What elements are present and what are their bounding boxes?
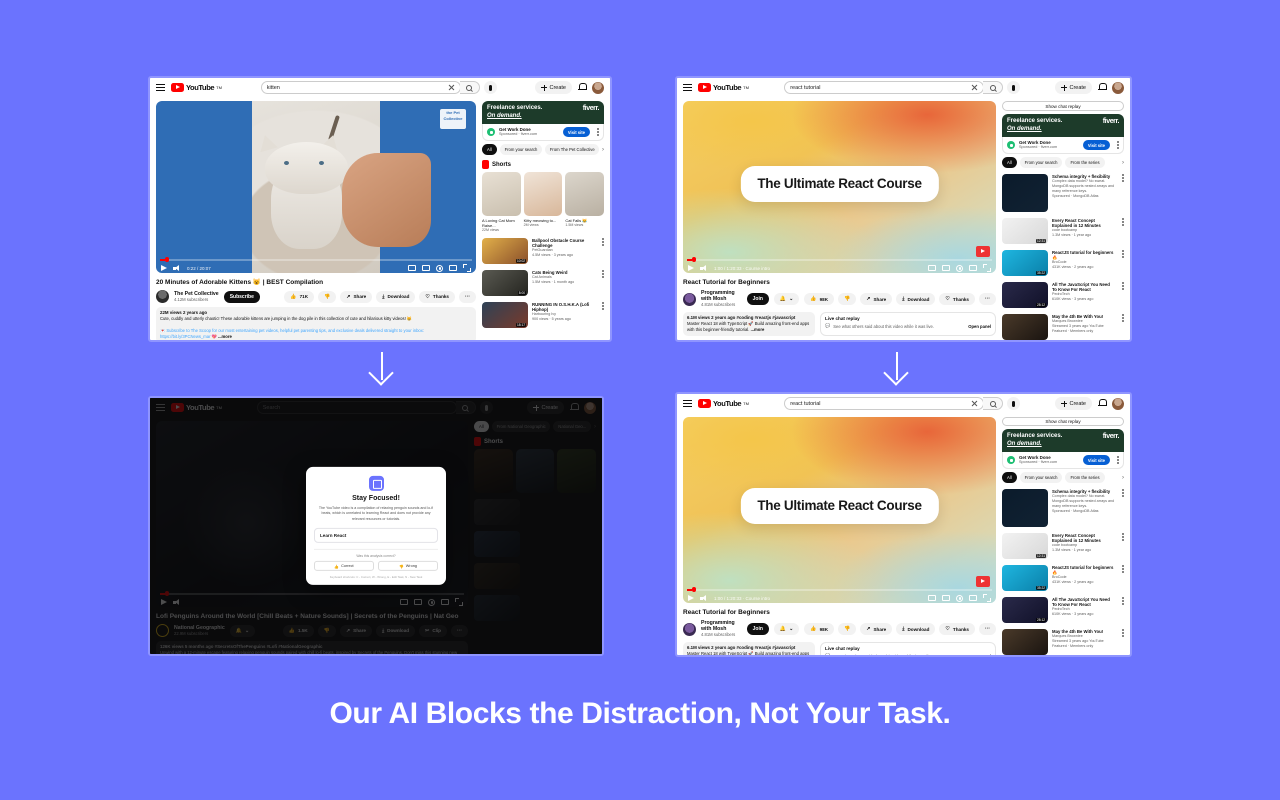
share-label: Share bbox=[353, 294, 366, 299]
short-thumbnail bbox=[565, 172, 604, 216]
thanks-label: Thanks bbox=[953, 627, 969, 632]
player-right-controls bbox=[408, 264, 471, 272]
recommendation-more-icon[interactable] bbox=[1122, 489, 1124, 497]
video-description[interactable]: 6.1M views 2 years ago #coding #reactjs … bbox=[683, 642, 815, 655]
channel-name: Programming with Mosh bbox=[701, 290, 742, 302]
hamburger-menu-icon[interactable] bbox=[683, 84, 692, 91]
filter-chips: All From your search From The Pet Collec… bbox=[482, 144, 604, 155]
current-task-field[interactable]: Learn React bbox=[314, 528, 438, 543]
recommendation-thumbnail bbox=[1002, 489, 1048, 527]
video-title-card: The Ultimate React Course bbox=[740, 166, 938, 202]
share-label: Share bbox=[873, 297, 886, 302]
thanks-button[interactable]: ♡Thanks bbox=[939, 623, 975, 635]
download-label: Download bbox=[907, 297, 929, 302]
recommendation-thumbnail: 35:22 bbox=[1002, 565, 1048, 591]
recommendation-thumbnail: 28:12 bbox=[1002, 282, 1048, 308]
video-title: React Tutorial for Beginners bbox=[683, 278, 996, 287]
ad-more-icon[interactable] bbox=[1117, 456, 1119, 464]
thanks-button[interactable]: ♡Thanks bbox=[419, 291, 455, 303]
analysis-question: Was this analysis correct? bbox=[314, 549, 438, 558]
recommendation-title: RUNNING IN O.S.H.K.A (Lofi Hiphop) bbox=[532, 302, 595, 312]
youtube-wordmark: YouTube bbox=[186, 83, 214, 92]
heart-icon: ♡ bbox=[945, 626, 949, 632]
ad-more-icon[interactable] bbox=[1117, 141, 1119, 149]
video-description[interactable]: 6.1M views 2 years ago #coding #reactjs … bbox=[683, 312, 815, 336]
theater-mode-icon[interactable] bbox=[449, 265, 457, 271]
join-button[interactable]: Join bbox=[747, 623, 769, 635]
views-line: 22M views 2 years ago bbox=[160, 310, 207, 315]
duration-badge: 8:00 bbox=[518, 291, 526, 295]
recommendation-item[interactable]: 12:31 Every React Concept Explained in 1… bbox=[1002, 218, 1124, 244]
subtitles-icon[interactable] bbox=[928, 595, 936, 601]
subtitles-icon[interactable] bbox=[408, 265, 416, 271]
recommendation-more-icon[interactable] bbox=[602, 270, 604, 278]
duration-badge: 28:12 bbox=[1036, 618, 1046, 622]
search-button[interactable] bbox=[460, 81, 480, 94]
recommendation-more-icon[interactable] bbox=[1122, 314, 1124, 322]
duration-badge: 35:22 bbox=[1036, 586, 1046, 590]
create-label: Create bbox=[549, 85, 566, 91]
fiverr-ad-card[interactable]: Freelance services.On demand. fiverr. Ge… bbox=[482, 101, 604, 141]
more-actions-button[interactable]: ··· bbox=[979, 623, 996, 635]
thumbs-up-icon: 👍 bbox=[810, 626, 816, 632]
filter-chips: All From your search From the series › bbox=[1002, 472, 1124, 483]
recommendation-meta: 900 views · 5 years ago bbox=[532, 317, 595, 322]
clear-search-icon[interactable] bbox=[971, 84, 978, 91]
recommendation-item[interactable]: 12:31 Every React Concept Explained in 1… bbox=[1002, 533, 1124, 559]
download-label: Download bbox=[907, 627, 929, 632]
channel-name: Programming with Mosh bbox=[701, 620, 742, 632]
ad-more-icon[interactable] bbox=[597, 128, 599, 136]
channel-watermark bbox=[976, 246, 990, 257]
video-description[interactable]: 22M views 2 years ago Cute, cuddly and u… bbox=[156, 307, 476, 340]
recommendation-meta: 1.5M views · 1 month ago bbox=[532, 280, 595, 285]
create-button[interactable]: Create bbox=[1055, 81, 1092, 94]
chevron-right-icon[interactable]: › bbox=[602, 147, 604, 153]
channel-info[interactable]: The Pet Collective 4.12M subscribers bbox=[174, 291, 219, 303]
flow-arrow-head-left bbox=[368, 360, 393, 385]
notifications-icon[interactable] bbox=[1098, 399, 1106, 408]
dislike-button[interactable]: 👎 bbox=[838, 623, 856, 635]
recommendation-item[interactable]: 18:17 RUNNING IN O.S.H.K.A (Lofi Hiphop)… bbox=[482, 302, 604, 328]
like-count: 71K bbox=[300, 294, 308, 299]
recommendation-channel: Complex data model? No sweat. MongoDB su… bbox=[1052, 494, 1115, 509]
channel-avatar[interactable] bbox=[156, 290, 169, 303]
recommendation-item[interactable]: May the 4th Be With You! Marques Brownle… bbox=[1002, 629, 1124, 655]
hamburger-menu-icon[interactable] bbox=[156, 84, 165, 91]
chip-from-channel[interactable]: From The Pet Collective bbox=[545, 144, 599, 155]
download-label: Download bbox=[387, 294, 409, 299]
shorts-label: Shorts bbox=[492, 162, 511, 168]
youtube-logo[interactable]: YouTube TM bbox=[698, 83, 749, 92]
volume-icon[interactable] bbox=[700, 265, 708, 272]
fullscreen-icon[interactable] bbox=[983, 594, 991, 602]
more-actions-button[interactable]: ··· bbox=[459, 291, 476, 303]
recommendation-meta: 1.3M views · 1 year ago bbox=[1052, 233, 1115, 238]
fiverr-app-icon bbox=[1007, 456, 1015, 464]
recommendation-more-icon[interactable] bbox=[602, 238, 604, 246]
open-panel-button[interactable]: Open panel bbox=[968, 654, 991, 656]
visit-site-button[interactable]: Visit site bbox=[1083, 455, 1110, 465]
fiverr-ad-card[interactable]: Freelance services.On demand. fiverr. Ge… bbox=[1002, 429, 1124, 469]
recommendation-more-icon[interactable] bbox=[602, 302, 604, 310]
create-button[interactable]: Create bbox=[1055, 397, 1092, 410]
video-title-card: The Ultimate React Course bbox=[740, 488, 938, 524]
correct-label: Correct bbox=[341, 564, 353, 568]
youtube-wordmark: YouTube bbox=[713, 83, 741, 92]
recommendation-item[interactable]: 35:22 ReactJS tutorial for beginners 🔥 B… bbox=[1002, 565, 1124, 591]
panel-youtube-react-top: YouTube TM react tutorial Create The Ult… bbox=[675, 76, 1132, 342]
live-chat-body: See what others said about this video wh… bbox=[833, 324, 934, 329]
notifications-icon[interactable] bbox=[1098, 83, 1106, 92]
ad-sponsored: Sponsored · fiverr.com bbox=[499, 132, 537, 137]
recommendation-more-icon[interactable] bbox=[1122, 565, 1124, 573]
thanks-button[interactable]: ♡Thanks bbox=[939, 293, 975, 305]
voice-search-button[interactable] bbox=[1007, 397, 1020, 410]
recommendation-item[interactable]: May the 4th Be With You! Marques Brownle… bbox=[1002, 314, 1124, 340]
recommendation-meta: 1.3M views · 1 year ago bbox=[1052, 548, 1115, 553]
modal-body: The YouTube video is a compilation of re… bbox=[314, 506, 438, 522]
settings-gear-icon[interactable] bbox=[956, 595, 963, 602]
recommendation-item[interactable]: 35:22 ReactJS tutorial for beginners 🔥 B… bbox=[1002, 250, 1124, 276]
channel-info[interactable]: Programming with Mosh 4.81M subscribers bbox=[701, 290, 742, 308]
voice-search-button[interactable] bbox=[1007, 81, 1020, 94]
recommendation-more-icon[interactable] bbox=[1122, 629, 1124, 637]
recommendation-more-icon[interactable] bbox=[1122, 174, 1124, 182]
sidebar: Freelance services.On demand. fiverr. Ge… bbox=[482, 101, 604, 340]
fiverr-logo: fiverr. bbox=[1103, 118, 1119, 125]
short-item[interactable]: Cat Falls 😹 1.5M views bbox=[565, 172, 604, 232]
recommendation-thumbnail bbox=[1002, 174, 1048, 212]
youtube-header: YouTube TM kitten Create bbox=[150, 78, 610, 97]
search-input[interactable]: kitten bbox=[261, 81, 461, 94]
share-button[interactable]: ↗Share bbox=[860, 293, 892, 305]
chip-from-series[interactable]: From the series bbox=[1065, 157, 1104, 168]
heart-icon: ♡ bbox=[945, 296, 949, 302]
recommendation-more-icon[interactable] bbox=[1122, 597, 1124, 605]
recommendation-thumbnail bbox=[1002, 314, 1048, 340]
duration-badge: 35:22 bbox=[1036, 271, 1046, 275]
live-chat-replay-panel: Live chat replay 💬 See what others said … bbox=[820, 312, 996, 336]
download-button[interactable]: ⤓Download bbox=[896, 293, 935, 305]
dislike-button[interactable]: 👎 bbox=[318, 291, 336, 303]
like-button[interactable]: 👍71K bbox=[284, 291, 314, 303]
fiverr-banner: Freelance services.On demand. fiverr. bbox=[1002, 114, 1124, 137]
search-button[interactable] bbox=[983, 81, 1003, 94]
like-button[interactable]: 👍98K bbox=[804, 293, 834, 305]
create-label: Create bbox=[1069, 85, 1086, 91]
fiverr-logo: fiverr. bbox=[1103, 433, 1119, 440]
join-button[interactable]: Join bbox=[747, 293, 769, 305]
recommendation-item[interactable]: 8:00 Cats Being Weird Cat Animals 1.5M v… bbox=[482, 270, 604, 296]
recommendation-item[interactable]: 28:12 All The JavaScript You Need To Kno… bbox=[1002, 282, 1124, 308]
recommendation-thumbnail: 35:22 bbox=[1002, 250, 1048, 276]
play-button[interactable] bbox=[688, 265, 694, 271]
play-icon bbox=[171, 83, 184, 92]
chevron-right-icon[interactable]: › bbox=[1122, 475, 1124, 481]
channel-watermark: the Pet Collective bbox=[440, 109, 466, 129]
search-area: react tutorial bbox=[749, 397, 1056, 410]
flow-arrow-head-right bbox=[883, 360, 908, 385]
sponsored-recommendation-item[interactable]: Schema integrity + flexibility Complex d… bbox=[1002, 489, 1124, 527]
recommendation-item[interactable]: 28:12 All The JavaScript You Need To Kno… bbox=[1002, 597, 1124, 623]
stay-focused-modal: Stay Focused! The YouTube video is a com… bbox=[306, 467, 446, 585]
settings-gear-icon[interactable] bbox=[436, 265, 443, 272]
share-icon: ↗ bbox=[866, 626, 870, 632]
microphone-icon bbox=[1012, 85, 1015, 91]
video-actions: 👍98K 👎 ↗Share ⤓Download ♡Thanks ··· bbox=[804, 623, 996, 635]
recommendation-thumbnail: 18:17 bbox=[482, 302, 528, 328]
video-actions: 👍71K 👎 ↗Share ⤓Download ♡Thanks ··· bbox=[284, 291, 476, 303]
youtube-header: YouTube TM react tutorial Create bbox=[677, 78, 1130, 97]
thumbs-down-icon: 👎 bbox=[399, 564, 404, 569]
time-display: 1:00 / 1:20:33 · Course intro bbox=[714, 596, 770, 601]
microphone-icon bbox=[1012, 401, 1015, 407]
recommendation-meta: 4.5M views · 3 years ago bbox=[532, 253, 595, 258]
clear-search-icon[interactable] bbox=[448, 84, 455, 91]
short-views: 1.5M views bbox=[565, 223, 604, 227]
chip-all[interactable]: All bbox=[482, 144, 497, 155]
fiverr-ad-card[interactable]: Freelance services.On demand. fiverr. Ge… bbox=[1002, 114, 1124, 154]
thumbs-down-icon: 👎 bbox=[844, 296, 850, 302]
channel-avatar[interactable] bbox=[683, 293, 696, 306]
fullscreen-icon[interactable] bbox=[983, 264, 991, 272]
views-line: 6.1M views 2 years ago #coding #reactjs … bbox=[687, 315, 795, 320]
modal-title: Stay Focused! bbox=[314, 495, 438, 502]
like-button[interactable]: 👍98K bbox=[804, 623, 834, 635]
video-player[interactable]: The Ultimate React Course 1:00 / 1:20:33… bbox=[683, 417, 996, 603]
download-button[interactable]: ⤓Download bbox=[376, 291, 415, 303]
ad-sponsored: Sponsored · fiverr.com bbox=[1019, 145, 1057, 150]
bell-icon: 🔔 bbox=[780, 296, 786, 302]
chip-from-your-search[interactable]: From your search bbox=[1020, 157, 1063, 168]
recommendation-more-icon[interactable] bbox=[1122, 250, 1124, 258]
fiverr-line2: On demand. bbox=[487, 113, 522, 119]
play-button[interactable] bbox=[688, 595, 694, 601]
short-title: A Loving Cat Mom Raise... bbox=[482, 218, 521, 228]
play-icon bbox=[698, 83, 711, 92]
player-controls: 0:22 / 20:07 bbox=[156, 259, 476, 273]
player-controls: 1:00 / 1:20:33 · Course intro bbox=[683, 259, 996, 273]
page-headline: Our AI Blocks the Distraction, Not Your … bbox=[0, 697, 1280, 731]
voice-search-button[interactable] bbox=[484, 81, 497, 94]
theater-mode-icon[interactable] bbox=[969, 595, 977, 601]
show-chat-replay-button[interactable]: Show chat replay bbox=[1002, 101, 1124, 111]
chat-bubble-icon: 💬 bbox=[825, 653, 830, 655]
open-panel-button[interactable]: Open panel bbox=[968, 324, 991, 329]
thumbs-up-icon: 👍 bbox=[810, 296, 816, 302]
search-icon bbox=[466, 85, 472, 91]
chip-from-your-search[interactable]: From your search bbox=[1020, 472, 1063, 483]
search-area: kitten bbox=[222, 81, 536, 94]
recommendation-title: ReactJS tutorial for beginners 🔥 bbox=[1052, 250, 1115, 260]
shorts-row: A Loving Cat Mom Raise... 22M views Kitt… bbox=[482, 172, 604, 232]
fiverr-banner: Freelance services.On demand. fiverr. bbox=[482, 101, 604, 124]
live-chat-title: Live chat replay bbox=[825, 316, 991, 321]
channel-subscribers: 4.12M subscribers bbox=[174, 297, 219, 303]
recommendation-channel: Complex data model? No sweat. MongoDB su… bbox=[1052, 179, 1115, 194]
fiverr-app-icon bbox=[487, 128, 495, 136]
volume-icon[interactable] bbox=[173, 265, 181, 272]
progress-bar[interactable] bbox=[687, 589, 992, 591]
description-and-chat-row: 6.1M views 2 years ago #coding #reactjs … bbox=[683, 642, 996, 655]
short-item[interactable]: Kitty meowing to... 2M views bbox=[524, 172, 563, 232]
chip-all[interactable]: All bbox=[1002, 157, 1017, 168]
thumbs-up-icon: 👍 bbox=[290, 294, 296, 300]
sponsored-recommendation-item[interactable]: Schema integrity + flexibility Complex d… bbox=[1002, 174, 1124, 212]
subscribe-button[interactable]: Subscribe bbox=[224, 291, 260, 303]
notification-bell-button[interactable]: 🔔⌄ bbox=[774, 623, 799, 635]
short-views: 2M views bbox=[524, 223, 563, 227]
more-actions-button[interactable]: ··· bbox=[979, 293, 996, 305]
channel-avatar[interactable] bbox=[683, 623, 696, 636]
wrong-label: Wrong bbox=[406, 564, 417, 568]
correct-button[interactable]: 👍Correct bbox=[314, 561, 374, 571]
progress-bar[interactable] bbox=[160, 259, 472, 261]
chevron-right-icon[interactable]: › bbox=[1122, 160, 1124, 166]
progress-bar[interactable] bbox=[687, 259, 992, 261]
fiverr-banner: Freelance services.On demand. fiverr. bbox=[1002, 429, 1124, 452]
shorts-header: Shorts bbox=[482, 160, 604, 169]
panel-youtube-penguin-blocked: YouTube TM Search Create bbox=[148, 396, 604, 656]
chip-from-your-search[interactable]: From your search bbox=[500, 144, 542, 155]
cat-head bbox=[265, 142, 348, 194]
play-button[interactable] bbox=[161, 265, 167, 271]
recommendation-meta: Streamed 3 years ago YouTube Featured · … bbox=[1052, 639, 1115, 649]
recommendation-title: Every React Concept Explained in 12 Minu… bbox=[1052, 533, 1115, 543]
plus-icon bbox=[541, 85, 547, 91]
chip-all[interactable]: All bbox=[1002, 472, 1017, 483]
player-right-controls bbox=[928, 594, 991, 602]
search-icon bbox=[990, 401, 996, 407]
play-icon bbox=[698, 399, 711, 408]
recommendation-meta: 610K views · 3 years ago bbox=[1052, 297, 1115, 302]
video-title: React Tutorial for Beginners bbox=[683, 608, 996, 617]
youtube-header: YouTube TM react tutorial Create bbox=[677, 394, 1130, 413]
clear-search-icon[interactable] bbox=[971, 400, 978, 407]
thumbs-down-icon: 👎 bbox=[324, 294, 330, 300]
youtube-logo[interactable]: YouTube TM bbox=[171, 83, 222, 92]
dislike-button[interactable]: 👎 bbox=[838, 293, 856, 305]
thumbs-down-icon: 👎 bbox=[844, 626, 850, 632]
duration-badge: 10:02 bbox=[516, 259, 526, 263]
short-item[interactable]: A Loving Cat Mom Raise... 22M views bbox=[482, 172, 521, 232]
show-chat-replay-button[interactable]: Show chat replay bbox=[1002, 417, 1124, 426]
fiverr-line1: Freelance services. bbox=[487, 105, 542, 111]
search-input[interactable]: react tutorial bbox=[784, 81, 984, 94]
video-title: 20 Minutes of Adorable Kittens 😺 | BEST … bbox=[156, 278, 476, 287]
shorts-icon bbox=[482, 160, 489, 169]
video-player[interactable]: The Ultimate React Course 1:00 / 1:20:33… bbox=[683, 101, 996, 273]
plus-icon bbox=[1061, 85, 1067, 91]
theater-mode-icon[interactable] bbox=[969, 265, 977, 271]
recommendation-meta: Sponsored · MongoDB Atlas bbox=[1052, 194, 1115, 199]
recommendation-title: ReactJS tutorial for beginners 🔥 bbox=[1052, 565, 1115, 575]
description-text: Cute, cuddly and utterly chaotic! These … bbox=[160, 316, 412, 321]
live-chat-replay-panel: Live chat replay 💬 See what others said … bbox=[820, 642, 996, 655]
miniplayer-icon[interactable] bbox=[942, 595, 950, 601]
search-area: react tutorial bbox=[749, 81, 1056, 94]
avatar[interactable] bbox=[592, 82, 604, 94]
recommendation-more-icon[interactable] bbox=[1122, 218, 1124, 226]
notifications-icon[interactable] bbox=[578, 83, 586, 92]
recommendation-title: All The JavaScript You Need To Know For … bbox=[1052, 597, 1115, 607]
recommendation-meta: 431K views · 2 years ago bbox=[1052, 580, 1115, 585]
fullscreen-icon[interactable] bbox=[463, 264, 471, 272]
recommendation-more-icon[interactable] bbox=[1122, 533, 1124, 541]
like-count: 98K bbox=[820, 627, 828, 632]
ad-sponsored: Sponsored · fiverr.com bbox=[1019, 460, 1057, 465]
channel-name: The Pet Collective bbox=[174, 291, 219, 297]
chip-from-series[interactable]: From the series bbox=[1065, 472, 1104, 483]
create-button[interactable]: Create bbox=[535, 81, 572, 94]
fiverr-ad-row: Get Work Done Sponsored · fiverr.com Vis… bbox=[1002, 452, 1124, 469]
heart-icon: ♡ bbox=[425, 294, 429, 300]
recommendation-title: Ballpool Obstacle Course Challenge bbox=[532, 238, 595, 248]
miniplayer-icon[interactable] bbox=[942, 265, 950, 271]
short-thumbnail bbox=[524, 172, 563, 216]
player-right-controls bbox=[928, 264, 991, 272]
volume-icon[interactable] bbox=[700, 595, 708, 602]
settings-gear-icon[interactable] bbox=[956, 265, 963, 272]
recommendation-item[interactable]: 10:02 Ballpool Obstacle Course Challenge… bbox=[482, 238, 604, 264]
feedback-buttons: 👍Correct 👎Wrong bbox=[314, 561, 438, 571]
short-views: 22M views bbox=[482, 228, 521, 232]
time-display: 0:22 / 20:07 bbox=[187, 266, 211, 271]
header-actions: Create bbox=[535, 81, 604, 94]
visit-site-button[interactable]: Visit site bbox=[563, 127, 590, 137]
avatar[interactable] bbox=[1112, 398, 1124, 410]
live-chat-body: See what others said about this video wh… bbox=[833, 654, 934, 656]
download-button[interactable]: ⤓Download bbox=[896, 623, 935, 635]
description-link-text[interactable]: 💌 Subscribe to The Scoop for our most en… bbox=[160, 328, 424, 339]
fiverr-ad-row: Get Work Done Sponsored · fiverr.com Vis… bbox=[482, 124, 604, 141]
create-label: Create bbox=[1069, 401, 1086, 407]
description-text: Master React 18 with TypeScript 🚀 Build … bbox=[687, 321, 809, 332]
video-player[interactable]: the Pet Collective 0:22 / 20:07 bbox=[156, 101, 476, 273]
channel-info[interactable]: Programming with Mosh 4.81M subscribers bbox=[701, 620, 742, 638]
panel-youtube-kitten: YouTube TM kitten Create bbox=[148, 76, 612, 342]
video-card-text: The Ultimate React Course bbox=[757, 176, 921, 191]
avatar[interactable] bbox=[1112, 82, 1124, 94]
recommendation-thumbnail: 28:12 bbox=[1002, 597, 1048, 623]
notification-bell-button[interactable]: 🔔⌄ bbox=[774, 293, 799, 305]
wrong-button[interactable]: 👎Wrong bbox=[378, 561, 438, 571]
show-more-link[interactable]: ...more bbox=[751, 327, 765, 332]
search-button[interactable] bbox=[983, 397, 1003, 410]
share-button[interactable]: ↗Share bbox=[340, 291, 372, 303]
recommendation-thumbnail: 8:00 bbox=[482, 270, 528, 296]
recommendation-more-icon[interactable] bbox=[1122, 282, 1124, 290]
views-line: 6.1M views 2 years ago #coding #reactjs … bbox=[687, 645, 795, 650]
plus-icon bbox=[1061, 401, 1067, 407]
description-text: Master React 18 with TypeScript 🚀 Build … bbox=[687, 651, 809, 655]
youtube-logo[interactable]: YouTube TM bbox=[698, 399, 749, 408]
share-button[interactable]: ↗Share bbox=[860, 623, 892, 635]
search-input[interactable]: react tutorial bbox=[784, 397, 984, 410]
download-icon: ⤓ bbox=[902, 626, 904, 632]
show-more-link[interactable]: ...more bbox=[218, 334, 232, 339]
miniplayer-icon[interactable] bbox=[422, 265, 430, 271]
channel-subscribers: 4.81M subscribers bbox=[701, 302, 742, 308]
share-icon: ↗ bbox=[346, 294, 350, 300]
header-actions: Create bbox=[1055, 397, 1124, 410]
hamburger-menu-icon[interactable] bbox=[683, 400, 692, 407]
sidebar: Show chat replay Freelance services.On d… bbox=[1002, 417, 1124, 655]
visit-site-button[interactable]: Visit site bbox=[1083, 140, 1110, 150]
subtitles-icon[interactable] bbox=[928, 265, 936, 271]
focus-shield-icon bbox=[369, 476, 384, 491]
